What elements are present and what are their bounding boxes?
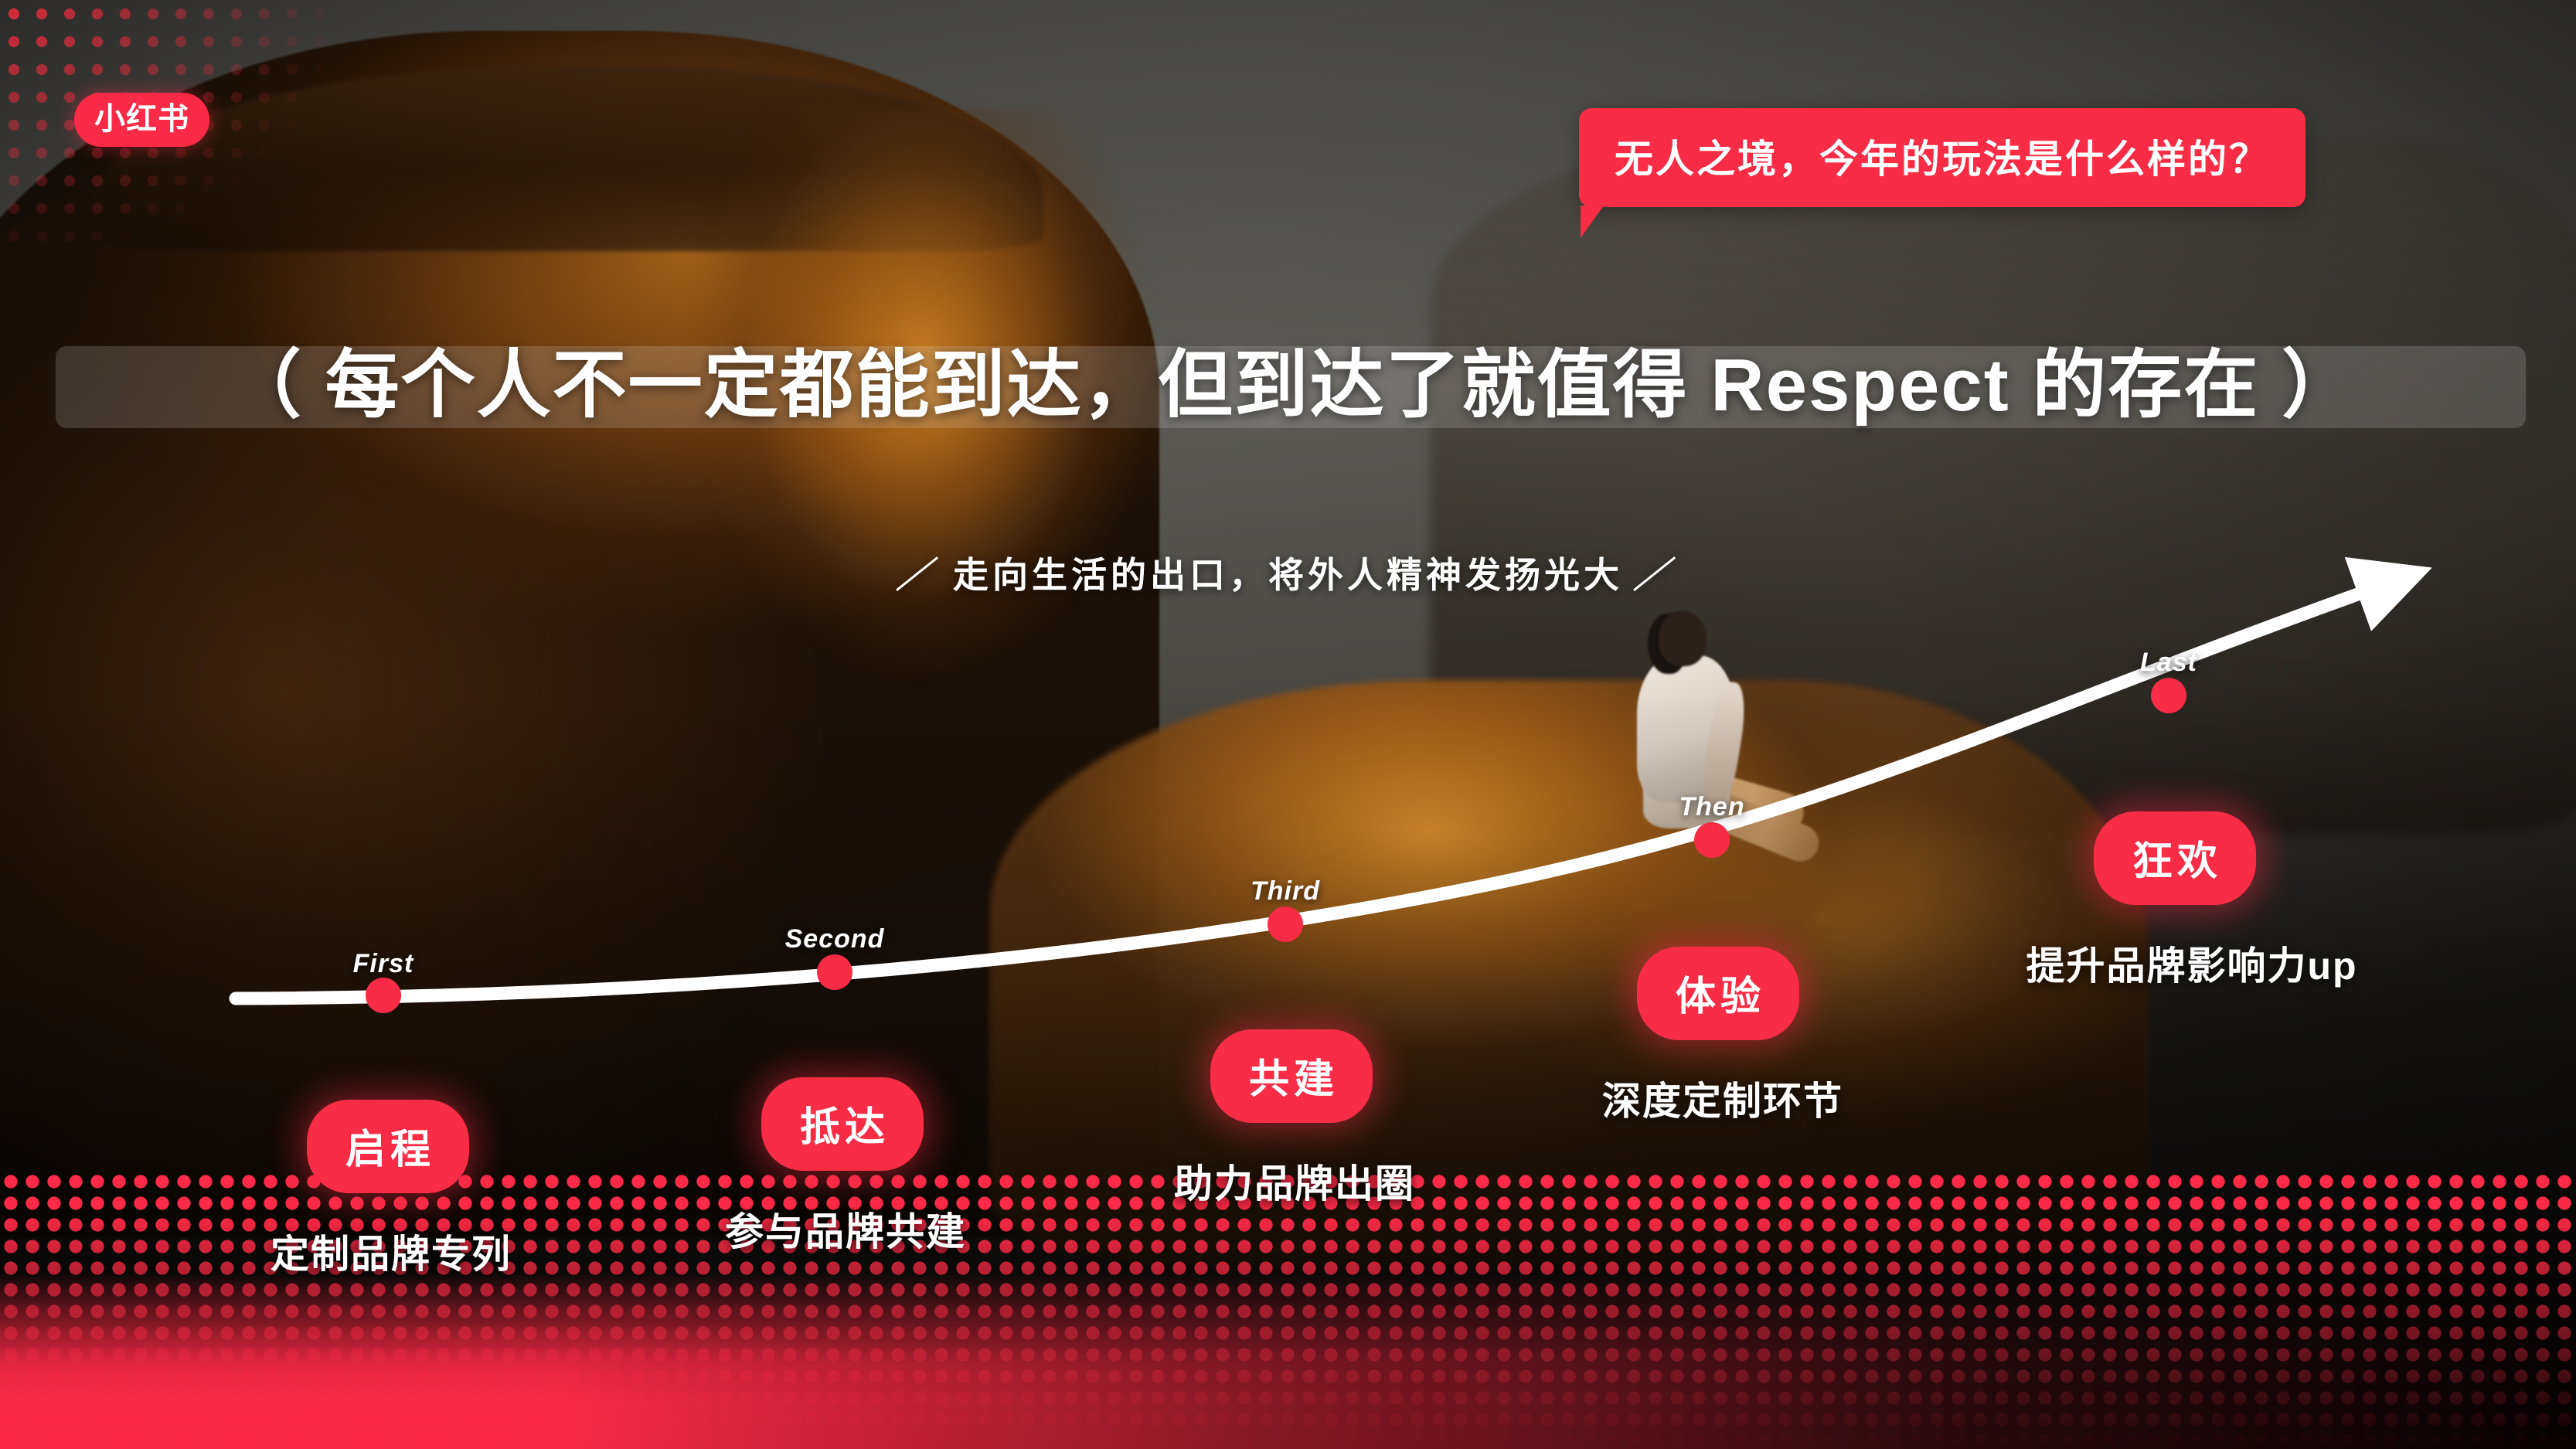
node-stage-pill[interactable]: 狂欢 xyxy=(2094,811,2256,905)
slash-left-icon: ／ xyxy=(893,547,945,598)
slash-right-icon: ／ xyxy=(1631,547,1683,598)
node-stage-pill[interactable]: 体验 xyxy=(1637,947,1799,1040)
node-stage-pill[interactable]: 启程 xyxy=(307,1100,469,1193)
halftone-dots-bottom xyxy=(0,1171,2576,1449)
node-stage-pill[interactable]: 抵达 xyxy=(761,1077,924,1171)
node-caption: 提升品牌影响力up xyxy=(2026,935,2357,991)
node-stage-pill[interactable]: 共建 xyxy=(1210,1029,1373,1123)
node-caption: 参与品牌共建 xyxy=(725,1201,966,1257)
poster-canvas: 小红书 无人之境，今年的玩法是什么样的？ （ 每个人不一定都能到达，但到达了就值… xyxy=(0,0,2576,1449)
node-ordinal-label: Second xyxy=(785,924,885,954)
node-ordinal-label: Third xyxy=(1251,876,1320,906)
campaign-question-bubble: 无人之境，今年的玩法是什么样的？ xyxy=(1579,108,2305,207)
node-caption: 深度定制环节 xyxy=(1602,1070,1843,1126)
subtitle-text: 走向生活的出口，将外人精神发扬光大 xyxy=(953,555,1623,595)
node-ordinal-label: Last xyxy=(2140,648,2197,678)
node-ordinal-label: First xyxy=(353,949,414,979)
node-ordinal-label: Then xyxy=(1679,792,1744,822)
node-caption: 助力品牌出圈 xyxy=(1174,1153,1415,1209)
xiaohongshu-logo[interactable]: 小红书 xyxy=(74,93,209,147)
page-title: （ 每个人不一定都能到达，但到达了就值得 Respect 的存在 ） xyxy=(48,325,2537,432)
subtitle: ／走向生活的出口，将外人精神发扬光大／ xyxy=(0,547,2576,598)
node-caption: 定制品牌专列 xyxy=(271,1223,512,1279)
